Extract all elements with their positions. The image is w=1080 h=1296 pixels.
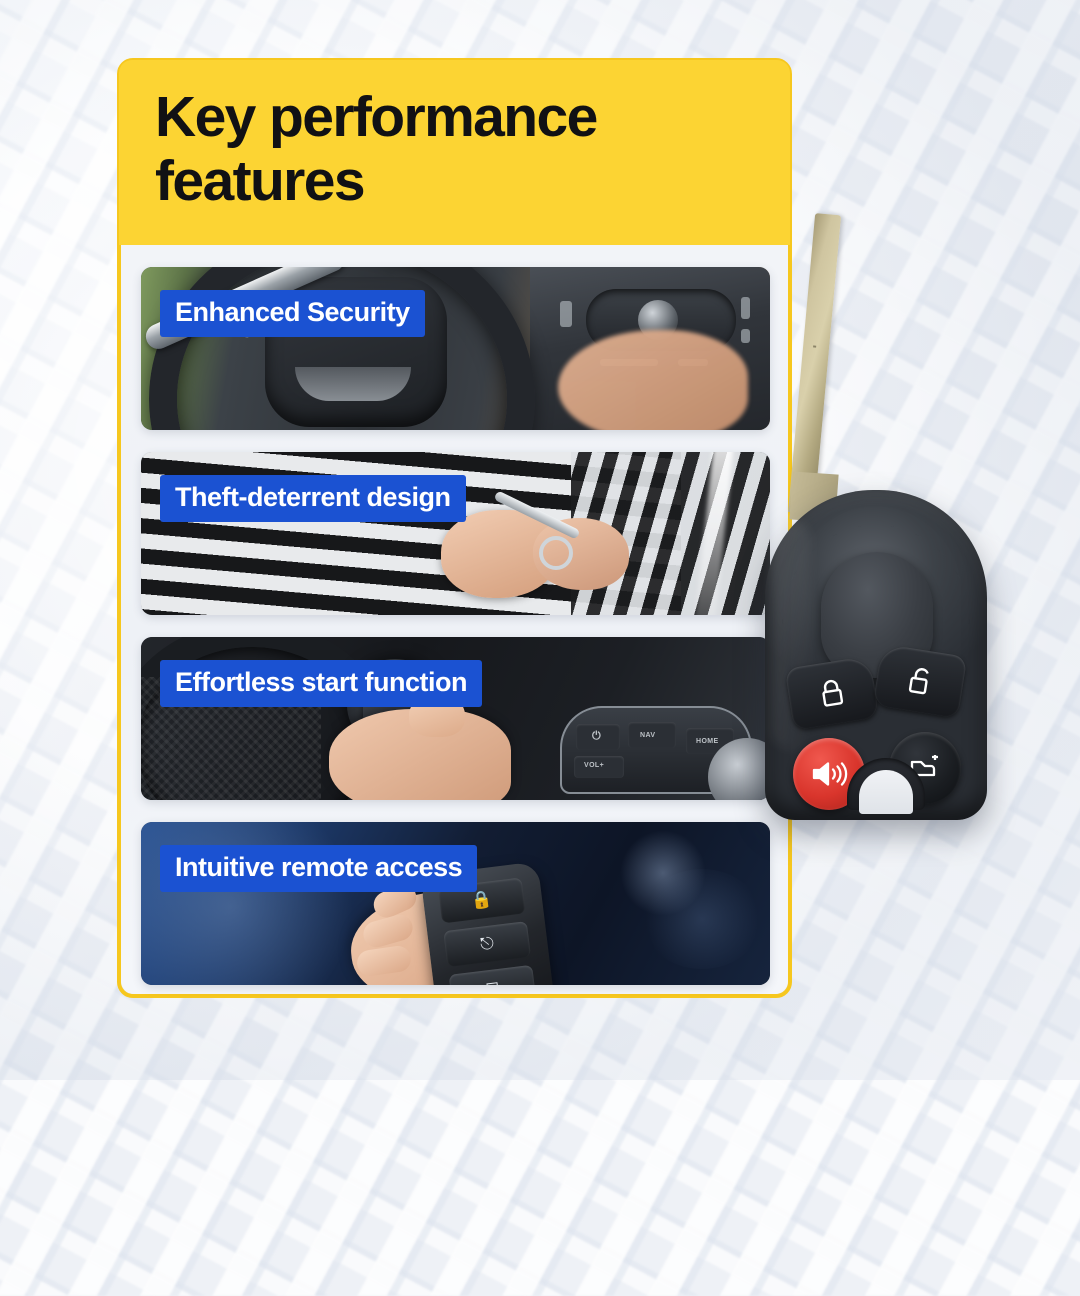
header-banner: Key performance features (119, 60, 790, 245)
page-title: Key performance features (155, 86, 755, 214)
lock-button[interactable] (785, 656, 880, 731)
key-car-button: ⎋ (443, 921, 531, 967)
key-fob-body (765, 490, 987, 820)
nav-label: NAV (640, 732, 655, 739)
closed-padlock-icon (785, 656, 880, 731)
bokeh-light (642, 869, 762, 969)
open-padlock-icon (873, 644, 968, 719)
key-blade (788, 213, 841, 514)
steering-wheel-spoke (295, 367, 411, 401)
product-key-fob (745, 205, 1010, 825)
power-icon: ⏻ (592, 730, 601, 743)
key-trunk-button: ◻ (449, 965, 537, 985)
feature-card-intuitive-remote-access[interactable]: 🔒 ⎋ ◻ Intuitive remote access (141, 822, 770, 985)
volume-label: VOL+ (584, 762, 604, 769)
unlock-button[interactable] (873, 644, 968, 719)
feature-label-badge: Enhanced Security (160, 290, 425, 337)
feature-label-badge: Theft-deterrent design (160, 475, 466, 522)
car-icon: ⎋ (443, 921, 531, 967)
trunk-icon: ◻ (449, 965, 537, 985)
feature-card-effortless-start-function[interactable]: ⏻ NAV HOME VOL+ Effortless start functio… (141, 637, 770, 800)
feature-card-enhanced-security[interactable]: Enhanced Security (141, 267, 770, 430)
key-ring (539, 536, 573, 570)
key-ring-hole (859, 770, 913, 814)
feature-label-badge: Effortless start function (160, 660, 482, 707)
feature-card-theft-deterrent-design[interactable]: Theft-deterrent design (141, 452, 770, 615)
feature-label-badge: Intuitive remote access (160, 845, 477, 892)
home-label: HOME (696, 738, 719, 745)
dashboard-button (560, 301, 572, 327)
